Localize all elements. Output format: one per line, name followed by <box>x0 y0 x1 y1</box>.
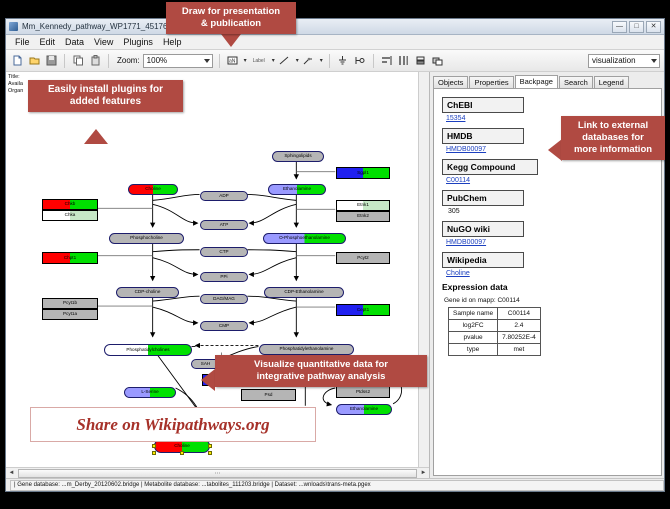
node-label: Sphingolipids <box>284 154 311 159</box>
links-callout-line3: more information <box>567 144 659 156</box>
node-label: O-Phosphoethanolamine <box>279 236 330 241</box>
status-text: | Gene database: ...m_Derby_20120602.bri… <box>10 480 664 491</box>
node-label: DAG/MAG <box>213 297 235 302</box>
maximize-button[interactable]: □ <box>629 21 644 33</box>
line-icon[interactable] <box>278 54 292 68</box>
table-row: pvalue7.80252E-4 <box>449 332 541 344</box>
title-bar: Mm_Kennedy_pathway_WP1771_45176.gpml — □… <box>6 19 664 35</box>
menu-item-file[interactable]: File <box>10 37 35 47</box>
table-cell-value: met <box>498 344 541 356</box>
node-label: Cept1 <box>357 308 369 313</box>
zoom-label: Zoom: <box>117 56 140 65</box>
database-block-nugo-wiki: NuGO wikiHMDB00097 <box>442 219 653 246</box>
table-cell-key: pvalue <box>449 332 498 344</box>
label-icon[interactable]: Label <box>250 54 268 68</box>
visualize-callout: Visualize quantitative data for integrat… <box>215 355 427 387</box>
table-row: log2FC2.4 <box>449 320 541 332</box>
save-icon[interactable] <box>44 54 58 68</box>
gene-node-etnk2[interactable]: Etnk2 <box>336 211 390 222</box>
metabolite-node-choline-top[interactable]: Choline <box>128 184 178 195</box>
tab-search[interactable]: Search <box>559 76 593 88</box>
node-label: Choline <box>145 187 161 192</box>
node-label: L-Serine <box>141 390 158 395</box>
gene-node-sgpl1[interactable]: Sgpl1 <box>336 167 390 179</box>
tab-properties[interactable]: Properties <box>469 76 513 88</box>
zoom-select[interactable]: 100% <box>143 54 213 68</box>
order-icon[interactable] <box>431 54 445 68</box>
receptor-icon[interactable] <box>353 54 367 68</box>
database-name: NuGO wiki <box>442 221 524 237</box>
metabolite-node-atp[interactable]: ATP <box>200 220 248 230</box>
metabolite-node-l-serine-left[interactable]: L-Serine <box>124 387 176 398</box>
database-name: HMDB <box>442 128 524 144</box>
node-label: Pcyt2 <box>357 256 369 261</box>
canvas-vertical-scrollbar[interactable] <box>418 72 429 467</box>
chevron-down-icon <box>204 59 210 63</box>
meta-organism: Organ <box>8 88 23 95</box>
node-label: Etnk2 <box>357 214 369 219</box>
tab-backpage[interactable]: Backpage <box>515 75 558 88</box>
toolbar-separator-4 <box>329 54 330 68</box>
metabolite-node-ppi[interactable]: PPi <box>200 272 248 282</box>
line-dropdown-icon[interactable]: ▾ <box>296 57 299 64</box>
node-label: Chka <box>65 213 76 218</box>
node-label: CTP <box>219 250 228 255</box>
minimize-button[interactable]: — <box>612 21 627 33</box>
links-callout: Link to external databases for more info… <box>561 116 665 160</box>
visualization-select[interactable]: visualization <box>588 54 660 68</box>
metabolite-node-ethanolamine[interactable]: Ethanolamine <box>268 184 326 195</box>
plugins-callout-arrow <box>84 129 108 144</box>
node-label: Psd <box>265 393 273 398</box>
menu-item-plugins[interactable]: Plugins <box>118 37 158 47</box>
svg-text:aN: aN <box>229 59 236 65</box>
table-cell-key: type <box>449 344 498 356</box>
stack-icon[interactable] <box>414 54 428 68</box>
app-icon <box>9 22 18 31</box>
database-name: Kegg Compound <box>442 159 538 175</box>
links-callout-arrow <box>548 139 562 161</box>
links-callout-line1: Link to external <box>567 120 659 132</box>
draw-callout-line1: Draw for presentation <box>172 6 290 18</box>
gene-node-psd[interactable]: Psd <box>241 389 296 401</box>
database-name: Wikipedia <box>442 252 524 268</box>
node-label: Phosphatidylethanolamine <box>280 347 334 352</box>
metabolite-node-sphingolipids[interactable]: Sphingolipids <box>272 151 324 162</box>
canvas-horizontal-scrollbar[interactable]: ◄ ⋯ ► <box>6 467 429 478</box>
plugins-callout-line2: added features <box>34 96 177 108</box>
selection-handle[interactable] <box>152 451 156 455</box>
node-label: Phosphatidylcholines <box>126 348 169 353</box>
table-cell-key: log2FC <box>449 320 498 332</box>
tab-objects[interactable]: Objects <box>433 76 468 88</box>
distribute-icon[interactable] <box>397 54 411 68</box>
menu-item-help[interactable]: Help <box>158 37 187 47</box>
node-label: CMP <box>219 324 229 329</box>
metabolite-node-cdp-choline[interactable]: CDP-choline <box>116 287 179 298</box>
metabolite-node-adp[interactable]: ADP <box>200 191 248 201</box>
sidebar-tabs[interactable]: ObjectsPropertiesBackpageSearchLegend <box>433 75 662 88</box>
database-block-kegg-compound: Kegg CompoundC00114 <box>442 157 653 184</box>
expression-data-table: Sample nameC00114log2FC2.4pvalue7.80252E… <box>448 307 541 356</box>
node-label: Choline <box>174 444 190 449</box>
window-controls[interactable]: — □ ✕ <box>612 21 661 33</box>
visualize-callout-line2: integrative pathway analysis <box>221 371 421 383</box>
node-label: Sgpl1 <box>357 171 369 176</box>
node-label: Phosphocholine <box>130 236 163 241</box>
visualize-callout-line1: Visualize quantitative data for <box>221 359 421 371</box>
plugins-callout: Easily install plugins for added feature… <box>28 80 183 112</box>
table-row: typemet <box>449 344 541 356</box>
close-button[interactable]: ✕ <box>646 21 661 33</box>
chevron-down-icon-vis <box>651 59 657 63</box>
gene-node-cept1[interactable]: Cept1 <box>336 304 390 316</box>
toolbar-separator-3 <box>219 54 220 68</box>
visualize-callout-arrow <box>201 369 215 391</box>
node-label: Chpt1 <box>64 256 76 261</box>
draw-callout: Draw for presentation & publication <box>166 2 296 34</box>
scroll-right-icon[interactable]: ► <box>418 468 429 479</box>
node-label: SAH <box>201 362 210 367</box>
node-label: Etnk1 <box>357 203 369 208</box>
selection-handle[interactable] <box>152 444 156 448</box>
metabolite-node-cdp-ethanolamine[interactable]: CDP-Ethanolamine <box>264 287 344 298</box>
gene-node-chkb[interactable]: Chkb <box>42 199 98 210</box>
table-cell-value: 7.80252E-4 <box>498 332 541 344</box>
gene-node-chpt1[interactable]: Chpt1 <box>42 252 98 264</box>
metabolite-node-ctp[interactable]: CTP <box>200 247 248 257</box>
database-link[interactable]: C00114 <box>446 177 653 184</box>
selection-handle[interactable] <box>208 451 212 455</box>
expression-data-heading: Expression data <box>442 282 653 292</box>
metabolite-node-phosphocholine[interactable]: Phosphocholine <box>109 233 184 244</box>
database-name: ChEBI <box>442 97 524 113</box>
metabolite-node-cmp[interactable]: CMP <box>200 321 248 331</box>
new-file-icon[interactable] <box>10 54 24 68</box>
links-callout-line2: databases for <box>567 132 659 144</box>
anchor-line-icon[interactable] <box>302 54 316 68</box>
gene-node-ptdss2[interactable]: Ptdss2 <box>336 386 390 398</box>
draw-callout-arrow <box>221 34 241 47</box>
menu-bar: File Edit Data View Plugins Help <box>6 35 664 50</box>
toolbar-separator-5 <box>373 54 374 68</box>
selection-handle[interactable] <box>208 444 212 448</box>
toolbar-separator-2 <box>108 54 109 68</box>
node-label: Ptdss2 <box>356 390 370 395</box>
database-value: 305 <box>448 208 653 215</box>
node-label: CDP-choline <box>135 290 161 295</box>
node-label: ADP <box>219 194 228 199</box>
database-link[interactable]: Choline <box>446 270 653 277</box>
metabolite-node-o-phosphoethanolamine[interactable]: O-Phosphoethanolamine <box>263 233 346 244</box>
node-label: PPi <box>220 275 227 280</box>
share-callout: Share on Wikipathways.org <box>30 407 316 442</box>
menu-item-edit[interactable]: Edit <box>35 37 61 47</box>
meta-availability: Availa <box>8 81 23 88</box>
label-dropdown-icon[interactable]: ▾ <box>272 57 275 64</box>
draw-callout-line2: & publication <box>172 18 290 30</box>
metabolite-node-phosphatidylethanolamine[interactable]: Phosphatidylethanolamine <box>259 344 354 355</box>
datanode-dropdown-icon[interactable]: ▾ <box>244 57 247 64</box>
gene-node-pcyt1a[interactable]: Pcyt1a <box>42 309 98 320</box>
table-cell-key: Sample name <box>449 308 498 320</box>
align-icon[interactable] <box>380 54 394 68</box>
pathway-canvas[interactable]: Title: Availa Organ <box>6 72 429 467</box>
open-folder-icon[interactable] <box>27 54 41 68</box>
node-label: Ethanolamine <box>350 407 378 412</box>
gene-node-pcyt1b[interactable]: Pcyt1b <box>42 298 98 309</box>
table-cell-value: C00114 <box>498 308 541 320</box>
menu-item-data[interactable]: Data <box>60 37 89 47</box>
gene-node-pcyt2[interactable]: Pcyt2 <box>336 252 390 264</box>
metabolite-node-ethanolamine-right[interactable]: Ethanolamine <box>336 404 392 415</box>
window-title: Mm_Kennedy_pathway_WP1771_45176.gpml <box>22 22 187 31</box>
visualization-value: visualization <box>592 56 636 65</box>
tab-legend[interactable]: Legend <box>594 76 629 88</box>
table-row: Sample nameC00114 <box>449 308 541 320</box>
metabolite-node-dag-mag[interactable]: DAG/MAG <box>200 294 248 304</box>
menu-item-view[interactable]: View <box>89 37 118 47</box>
database-name: PubChem <box>442 190 524 206</box>
ground-icon[interactable] <box>336 54 350 68</box>
metabolite-node-phosphatidylcholines[interactable]: Phosphatidylcholines <box>104 344 192 356</box>
scroll-thumb[interactable]: ⋯ <box>18 469 417 478</box>
node-label: Ethanolamine <box>283 187 311 192</box>
copy-icon[interactable] <box>71 54 85 68</box>
status-bar: | Gene database: ...m_Derby_20120602.bri… <box>6 478 664 491</box>
anchor-dropdown-icon[interactable]: ▾ <box>320 57 323 64</box>
datanode-icon[interactable]: aN <box>226 54 240 68</box>
pathvisio-window: Mm_Kennedy_pathway_WP1771_45176.gpml — □… <box>5 18 665 492</box>
gene-node-chka[interactable]: Chka <box>42 210 98 221</box>
pathway-editor-pane: Title: Availa Organ <box>6 72 430 478</box>
database-block-pubchem: PubChem305 <box>442 188 653 215</box>
node-label: Pcyt1b <box>63 301 77 306</box>
node-label: CDP-Ethanolamine <box>284 290 323 295</box>
meta-title: Title: <box>8 74 23 81</box>
plugins-callout-line1: Easily install plugins for <box>34 84 177 96</box>
node-label: Chkb <box>65 202 76 207</box>
toolbar: Zoom: 100% aN ▾ Label ▾ ▾ ▾ <box>6 50 664 72</box>
zoom-value: 100% <box>147 56 167 65</box>
database-link[interactable]: HMDB00097 <box>446 239 653 246</box>
scroll-left-icon[interactable]: ◄ <box>6 468 17 479</box>
selection-handle[interactable] <box>180 451 184 455</box>
toolbar-separator-1 <box>64 54 65 68</box>
node-label: Pcyt1a <box>63 312 77 317</box>
pathway-meta: Title: Availa Organ <box>8 74 23 95</box>
gene-id-line: Gene id on mapp: C00114 <box>444 297 653 304</box>
node-label: ATP <box>220 223 229 228</box>
gene-node-etnk1[interactable]: Etnk1 <box>336 200 390 211</box>
paste-icon[interactable] <box>88 54 102 68</box>
database-block-wikipedia: WikipediaCholine <box>442 250 653 277</box>
table-cell-value: 2.4 <box>498 320 541 332</box>
